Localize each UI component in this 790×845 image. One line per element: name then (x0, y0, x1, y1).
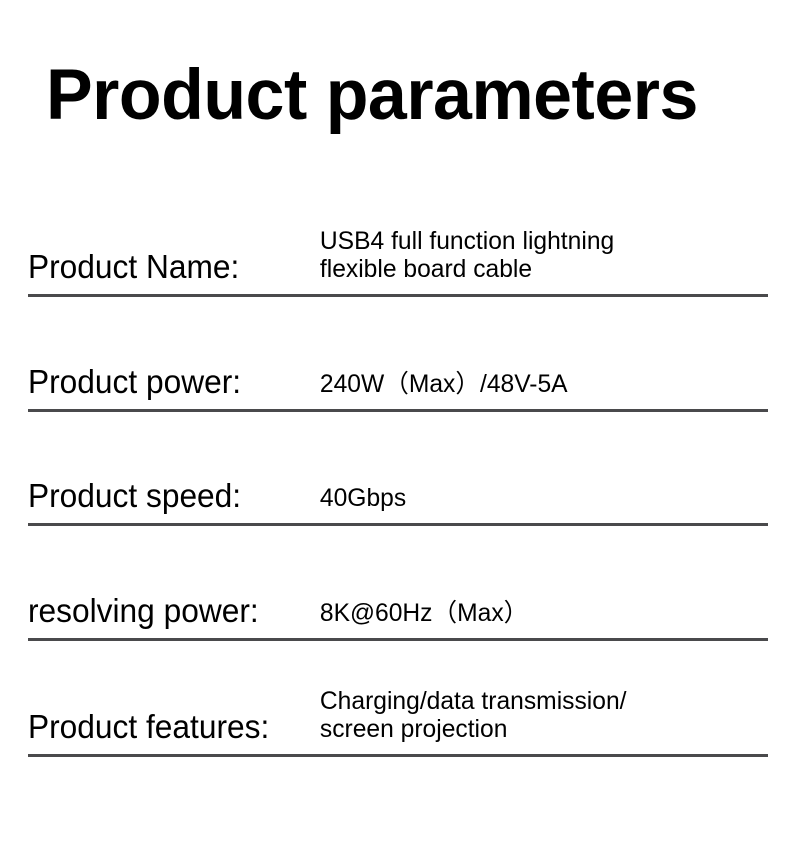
spec-value-product-features: Charging/data transmission/ screen proje… (313, 687, 761, 754)
spec-value-product-power: 240W（Max）/48V-5A (313, 370, 761, 409)
spec-label-resolving-power: resolving power: (28, 593, 302, 638)
table-row: Product speed: 40Gbps (28, 412, 768, 526)
spec-value-resolving-power: 8K@60Hz（Max） (313, 599, 761, 638)
page-title: Product parameters (46, 58, 736, 134)
table-row: Product power: 240W（Max）/48V-5A (28, 297, 768, 412)
spec-label-product-features: Product features: (28, 709, 302, 754)
spec-value-line: screen projection (320, 715, 761, 743)
table-row: Product Name: USB4 full function lightni… (28, 218, 768, 297)
spec-value-line: Charging/data transmission/ (320, 687, 761, 715)
spec-table: Product Name: USB4 full function lightni… (28, 218, 768, 757)
spec-label-product-name: Product Name: (28, 249, 302, 294)
table-row: Product features: Charging/data transmis… (28, 641, 768, 757)
spec-value-line: USB4 full function lightning (320, 227, 761, 255)
spec-value-line: 240W（Max）/48V-5A (320, 370, 761, 398)
spec-label-product-speed: Product speed: (28, 478, 302, 523)
table-row: resolving power: 8K@60Hz（Max） (28, 526, 768, 641)
spec-label-product-power: Product power: (28, 364, 302, 409)
spec-value-product-name: USB4 full function lightning flexible bo… (313, 227, 761, 294)
spec-value-product-speed: 40Gbps (313, 484, 761, 523)
spec-value-line: flexible board cable (320, 255, 761, 283)
spec-value-line: 8K@60Hz（Max） (320, 599, 761, 627)
spec-value-line: 40Gbps (320, 484, 761, 512)
product-parameters-page: Product parameters Product Name: USB4 fu… (0, 0, 790, 845)
